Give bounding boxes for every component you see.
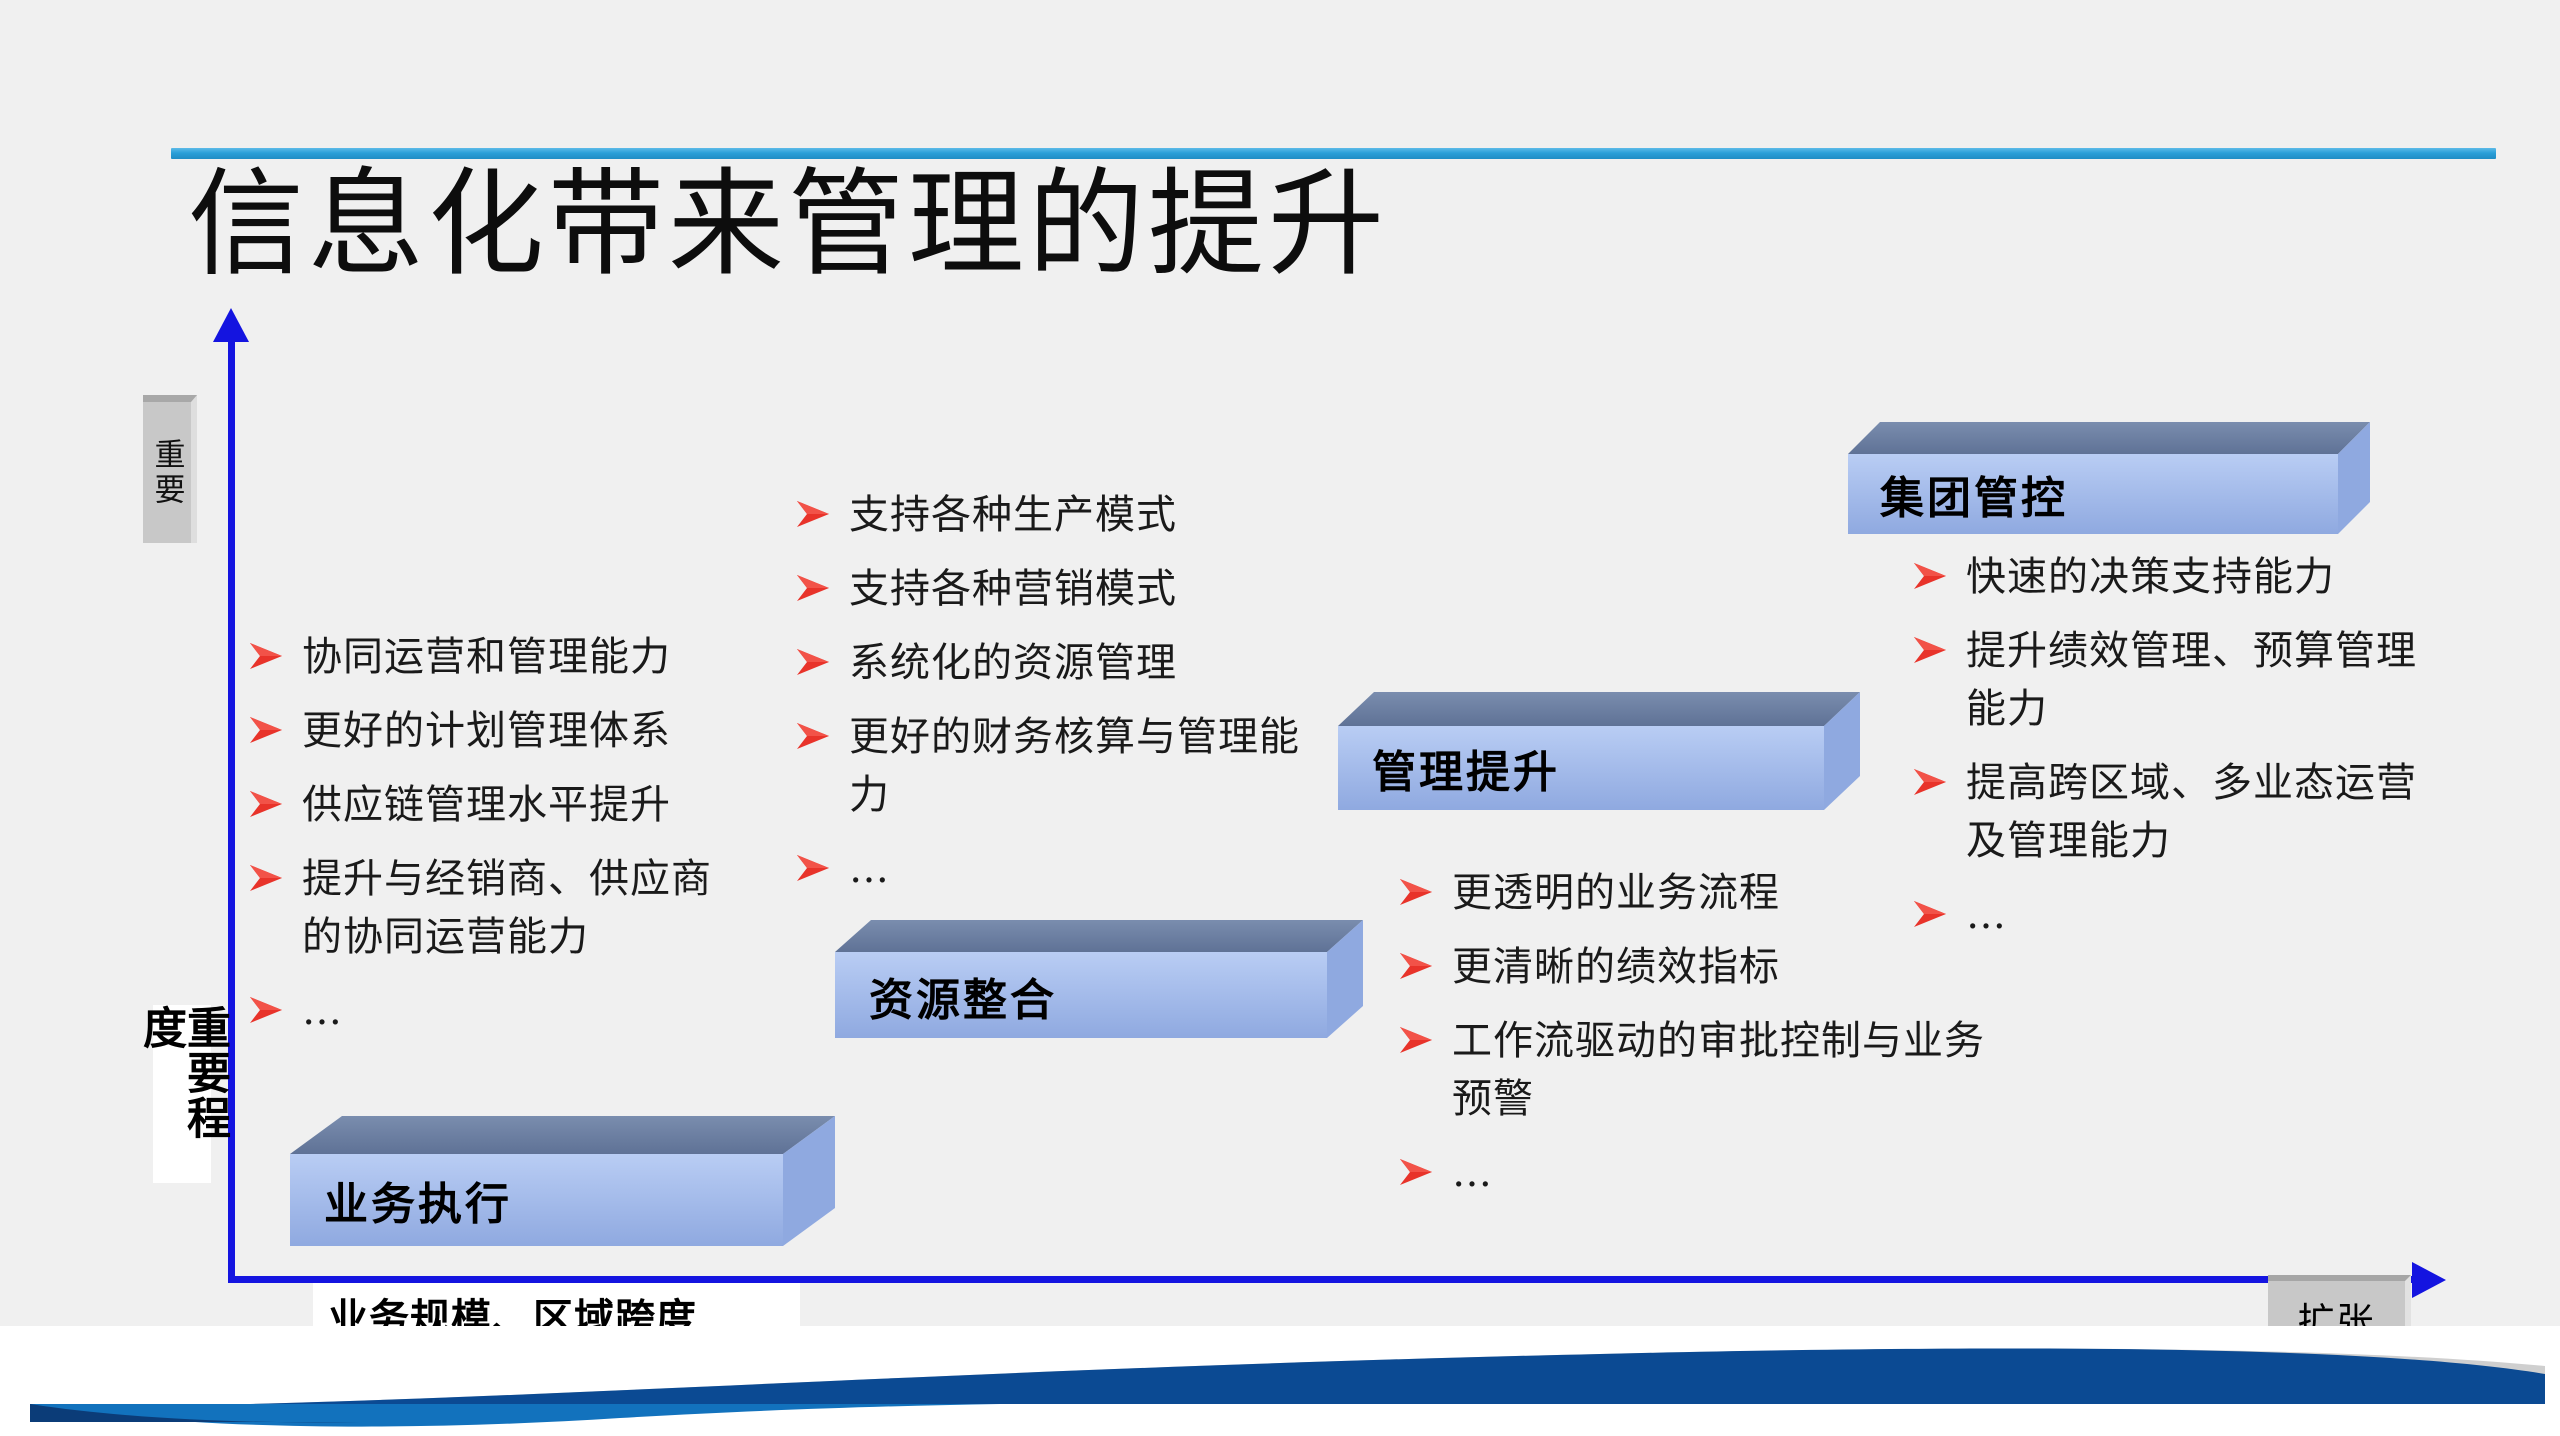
- arrow-right-bullet-icon: [795, 499, 835, 533]
- bullet-item: 供应链管理水平提升: [248, 776, 718, 834]
- bullet-text: 协同运营和管理能力: [302, 628, 671, 686]
- bullet-item: 协同运营和管理能力: [248, 628, 718, 686]
- bullet-item: 提升绩效管理、预算管理能力: [1912, 622, 2432, 738]
- x-axis-line: [228, 1276, 2418, 1283]
- bullet-text: …: [849, 840, 890, 898]
- bullet-list-resource-integration: 支持各种生产模式支持各种营销模式系统化的资源管理更好的财务核算与管理能力…: [795, 486, 1315, 914]
- bullet-text: 供应链管理水平提升: [302, 776, 671, 834]
- y-axis-top-label: 重要: [143, 395, 197, 543]
- bullet-text: 更透明的业务流程: [1452, 864, 1780, 922]
- bullet-text: 快速的决策支持能力: [1966, 548, 2335, 606]
- stage-box-execution[interactable]: 业务执行: [290, 1108, 835, 1246]
- arrow-right-bullet-icon: [1912, 899, 1952, 933]
- arrow-right-bullet-icon: [795, 573, 835, 607]
- page-title: 信息化带来管理的提升: [188, 152, 1388, 297]
- stage-box-resource-integration[interactable]: 资源整合: [835, 918, 1363, 1040]
- slide-canvas: 信息化带来管理的提升 重要 重要程度 业务规模、区域跨度 扩张: [0, 0, 2560, 1436]
- stage-box-group-control[interactable]: 集团管控: [1848, 412, 2370, 538]
- stage-box-management-improvement[interactable]: 管理提升: [1338, 688, 1860, 812]
- arrow-right-bullet-icon: [248, 789, 288, 823]
- arrow-right-bullet-icon: [795, 721, 835, 755]
- arrow-right-bullet-icon: [1912, 561, 1952, 595]
- bullet-text: 工作流驱动的审批控制与业务预警: [1452, 1012, 2008, 1128]
- bullet-text: 更好的财务核算与管理能力: [849, 708, 1315, 824]
- arrow-right-bullet-icon: [248, 715, 288, 749]
- bullet-item: …: [248, 982, 718, 1040]
- bullet-item: 系统化的资源管理: [795, 634, 1315, 692]
- arrow-right-bullet-icon: [1398, 1025, 1438, 1059]
- bullet-item: 工作流驱动的审批控制与业务预警: [1398, 1012, 2008, 1128]
- bullet-text: …: [1966, 886, 2007, 944]
- bullet-item: 提升与经销商、供应商的协同运营能力: [248, 850, 718, 966]
- arrow-right-bullet-icon: [248, 641, 288, 675]
- arrow-right-bullet-icon: [1398, 877, 1438, 911]
- arrow-right-bullet-icon: [1912, 767, 1952, 801]
- bullet-item: 支持各种生产模式: [795, 486, 1315, 544]
- bullet-list-execution: 协同运营和管理能力更好的计划管理体系供应链管理水平提升提升与经销商、供应商的协同…: [248, 628, 718, 1056]
- bullet-item: 更好的计划管理体系: [248, 702, 718, 760]
- arrow-right-bullet-icon: [1912, 635, 1952, 669]
- bullet-item: …: [1912, 886, 2432, 944]
- bullet-text: 支持各种生产模式: [849, 486, 1177, 544]
- bullet-text: 提高跨区域、多业态运营及管理能力: [1966, 754, 2432, 870]
- bullet-text: 支持各种营销模式: [849, 560, 1177, 618]
- bullet-item: 提高跨区域、多业态运营及管理能力: [1912, 754, 2432, 870]
- arrow-right-bullet-icon: [1398, 951, 1438, 985]
- bullet-item: 支持各种营销模式: [795, 560, 1315, 618]
- bullet-text: …: [302, 982, 343, 1040]
- arrow-right-bullet-icon: [795, 647, 835, 681]
- bullet-item: 快速的决策支持能力: [1912, 548, 2432, 606]
- bullet-text: 提升与经销商、供应商的协同运营能力: [302, 850, 718, 966]
- arrow-right-bullet-icon: [248, 995, 288, 1029]
- footer-decoration: [0, 1326, 2560, 1436]
- arrow-right-bullet-icon: [1398, 1157, 1438, 1191]
- stage-box-label: 管理提升: [1372, 736, 1560, 800]
- stage-box-label: 业务执行: [324, 1168, 512, 1232]
- arrow-right-bullet-icon: [248, 863, 288, 897]
- bullet-text: 更好的计划管理体系: [302, 702, 671, 760]
- y-axis-bottom-label: 重要程度: [153, 1005, 211, 1183]
- stage-box-label: 资源整合: [869, 964, 1057, 1028]
- bullet-text: 系统化的资源管理: [849, 634, 1177, 692]
- bullet-text: 提升绩效管理、预算管理能力: [1966, 622, 2432, 738]
- bullet-item: …: [1398, 1144, 2008, 1202]
- bullet-text: 更清晰的绩效指标: [1452, 938, 1780, 996]
- stage-box-label: 集团管控: [1880, 462, 2068, 526]
- bullet-item: …: [795, 840, 1315, 898]
- bullet-item: 更好的财务核算与管理能力: [795, 708, 1315, 824]
- arrow-right-bullet-icon: [795, 853, 835, 887]
- bullet-list-group-control: 快速的决策支持能力提升绩效管理、预算管理能力提高跨区域、多业态运营及管理能力…: [1912, 548, 2432, 960]
- bullet-text: …: [1452, 1144, 1493, 1202]
- axis-arrow-right-icon: [2412, 1262, 2446, 1298]
